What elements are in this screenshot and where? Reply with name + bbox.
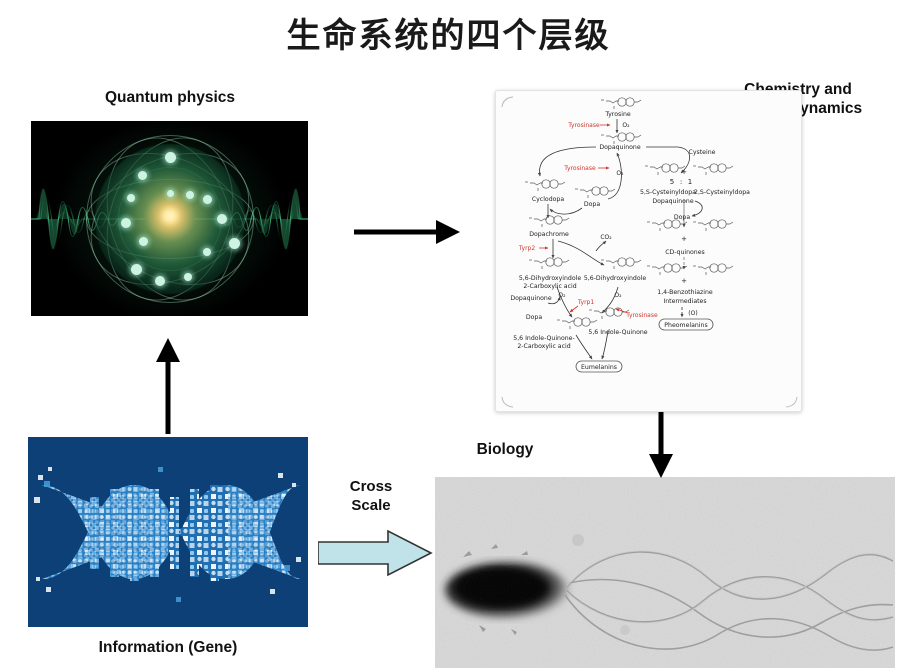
electron-dot: [131, 264, 142, 275]
reagent-label: O₂: [622, 122, 630, 129]
information-gene-image: [28, 437, 308, 627]
enzyme-label: Tyrosinase: [625, 312, 658, 319]
biology-micrograph-image: [435, 477, 895, 668]
quantum-physics-label: Quantum physics: [30, 88, 310, 107]
node-label: 5,6 Indole-Quinone: [588, 329, 647, 336]
electron-dot: [127, 194, 135, 202]
information-gene-label: Information (Gene): [28, 638, 308, 657]
cross-scale-block-arrow: [318, 527, 433, 579]
reagent-label: (O): [688, 310, 697, 317]
svg-text:+: +: [681, 277, 687, 285]
electron-dot: [165, 152, 176, 163]
node-label: Tyrosine: [604, 111, 631, 118]
electron-dot: [203, 248, 211, 256]
electron-dot: [167, 190, 174, 197]
svg-text:+: +: [681, 235, 687, 243]
enzyme-label: Tyrosinase: [567, 122, 600, 129]
dna-helix-graphic: [28, 437, 308, 627]
biology-label: Biology: [435, 440, 575, 459]
arrow-chemistry-to-biology: [640, 412, 682, 480]
arrow-quantum-to-chemistry: [352, 212, 462, 252]
cross-scale-label: Cross Scale: [325, 478, 417, 516]
ratio-label: 5: [670, 178, 674, 186]
node-label: Cyclodopa: [532, 196, 565, 203]
node-label: 1,4-Benzothiazine: [657, 289, 713, 296]
arrow-gene-to-quantum: [148, 336, 188, 436]
enzyme-label: Tyrp2: [518, 245, 536, 252]
node-label: Dopa: [526, 314, 542, 321]
quantum-physics-image: [31, 121, 308, 316]
node-label: 5,6-Dihydroxyindole: [519, 275, 581, 282]
enzyme-label: Tyrosinase: [563, 165, 596, 172]
enzyme-label: Tyrp1: [577, 299, 595, 306]
node-label: Dopaquinone: [599, 144, 640, 151]
chemistry-pathway-image: Tyrosine Tyrosinase O₂ Dopaquinone Cyclo…: [495, 90, 802, 412]
node-label: Dopaquinone: [510, 295, 551, 302]
node-label: 2,S-Cysteinyldopa: [694, 189, 750, 196]
electron-dot: [138, 171, 147, 180]
electron-dot: [184, 273, 192, 281]
slide-canvas: 生命系统的四个层级 Quantum physics: [0, 0, 897, 668]
node-label: 5,6 Indole-Quinone-: [513, 335, 574, 342]
electron-dot: [229, 238, 240, 249]
node-label: Eumelanins: [581, 364, 617, 371]
node-label: Intermediates: [663, 298, 706, 305]
electron-dot: [139, 237, 148, 246]
electron-dot: [217, 214, 227, 224]
electron-dot: [155, 276, 165, 286]
svg-text:+: +: [681, 168, 687, 176]
node-label: 2-Carboxylic acid: [517, 343, 570, 350]
electron-dot: [186, 191, 194, 199]
melanin-pathway-diagram: Tyrosine Tyrosinase O₂ Dopaquinone Cyclo…: [496, 91, 802, 412]
node-label: Cysteine: [689, 149, 716, 156]
page-title: 生命系统的四个层级: [0, 8, 897, 57]
node-label: 5,6-Dihydroxyindole: [584, 275, 646, 282]
bacterium-flagella-graphic: [435, 477, 895, 668]
node-label: Dopachrome: [529, 231, 569, 238]
node-label: Dopaquinone: [652, 198, 693, 205]
reagent-label: O₂: [616, 170, 624, 177]
node-label: 2-Carboxylic acid: [523, 283, 576, 290]
electron-dot: [121, 218, 131, 228]
node-label: Pheomelanins: [664, 322, 707, 329]
ratio-label: 1: [688, 178, 692, 186]
svg-text::: :: [680, 178, 682, 186]
node-label: Dopa: [584, 201, 600, 208]
node-label: CD-quinones: [665, 249, 705, 256]
node-label: 5,S-Cysteinyldopa: [640, 189, 696, 196]
electron-dot: [203, 195, 212, 204]
reagent-label: CO₂: [600, 234, 612, 241]
